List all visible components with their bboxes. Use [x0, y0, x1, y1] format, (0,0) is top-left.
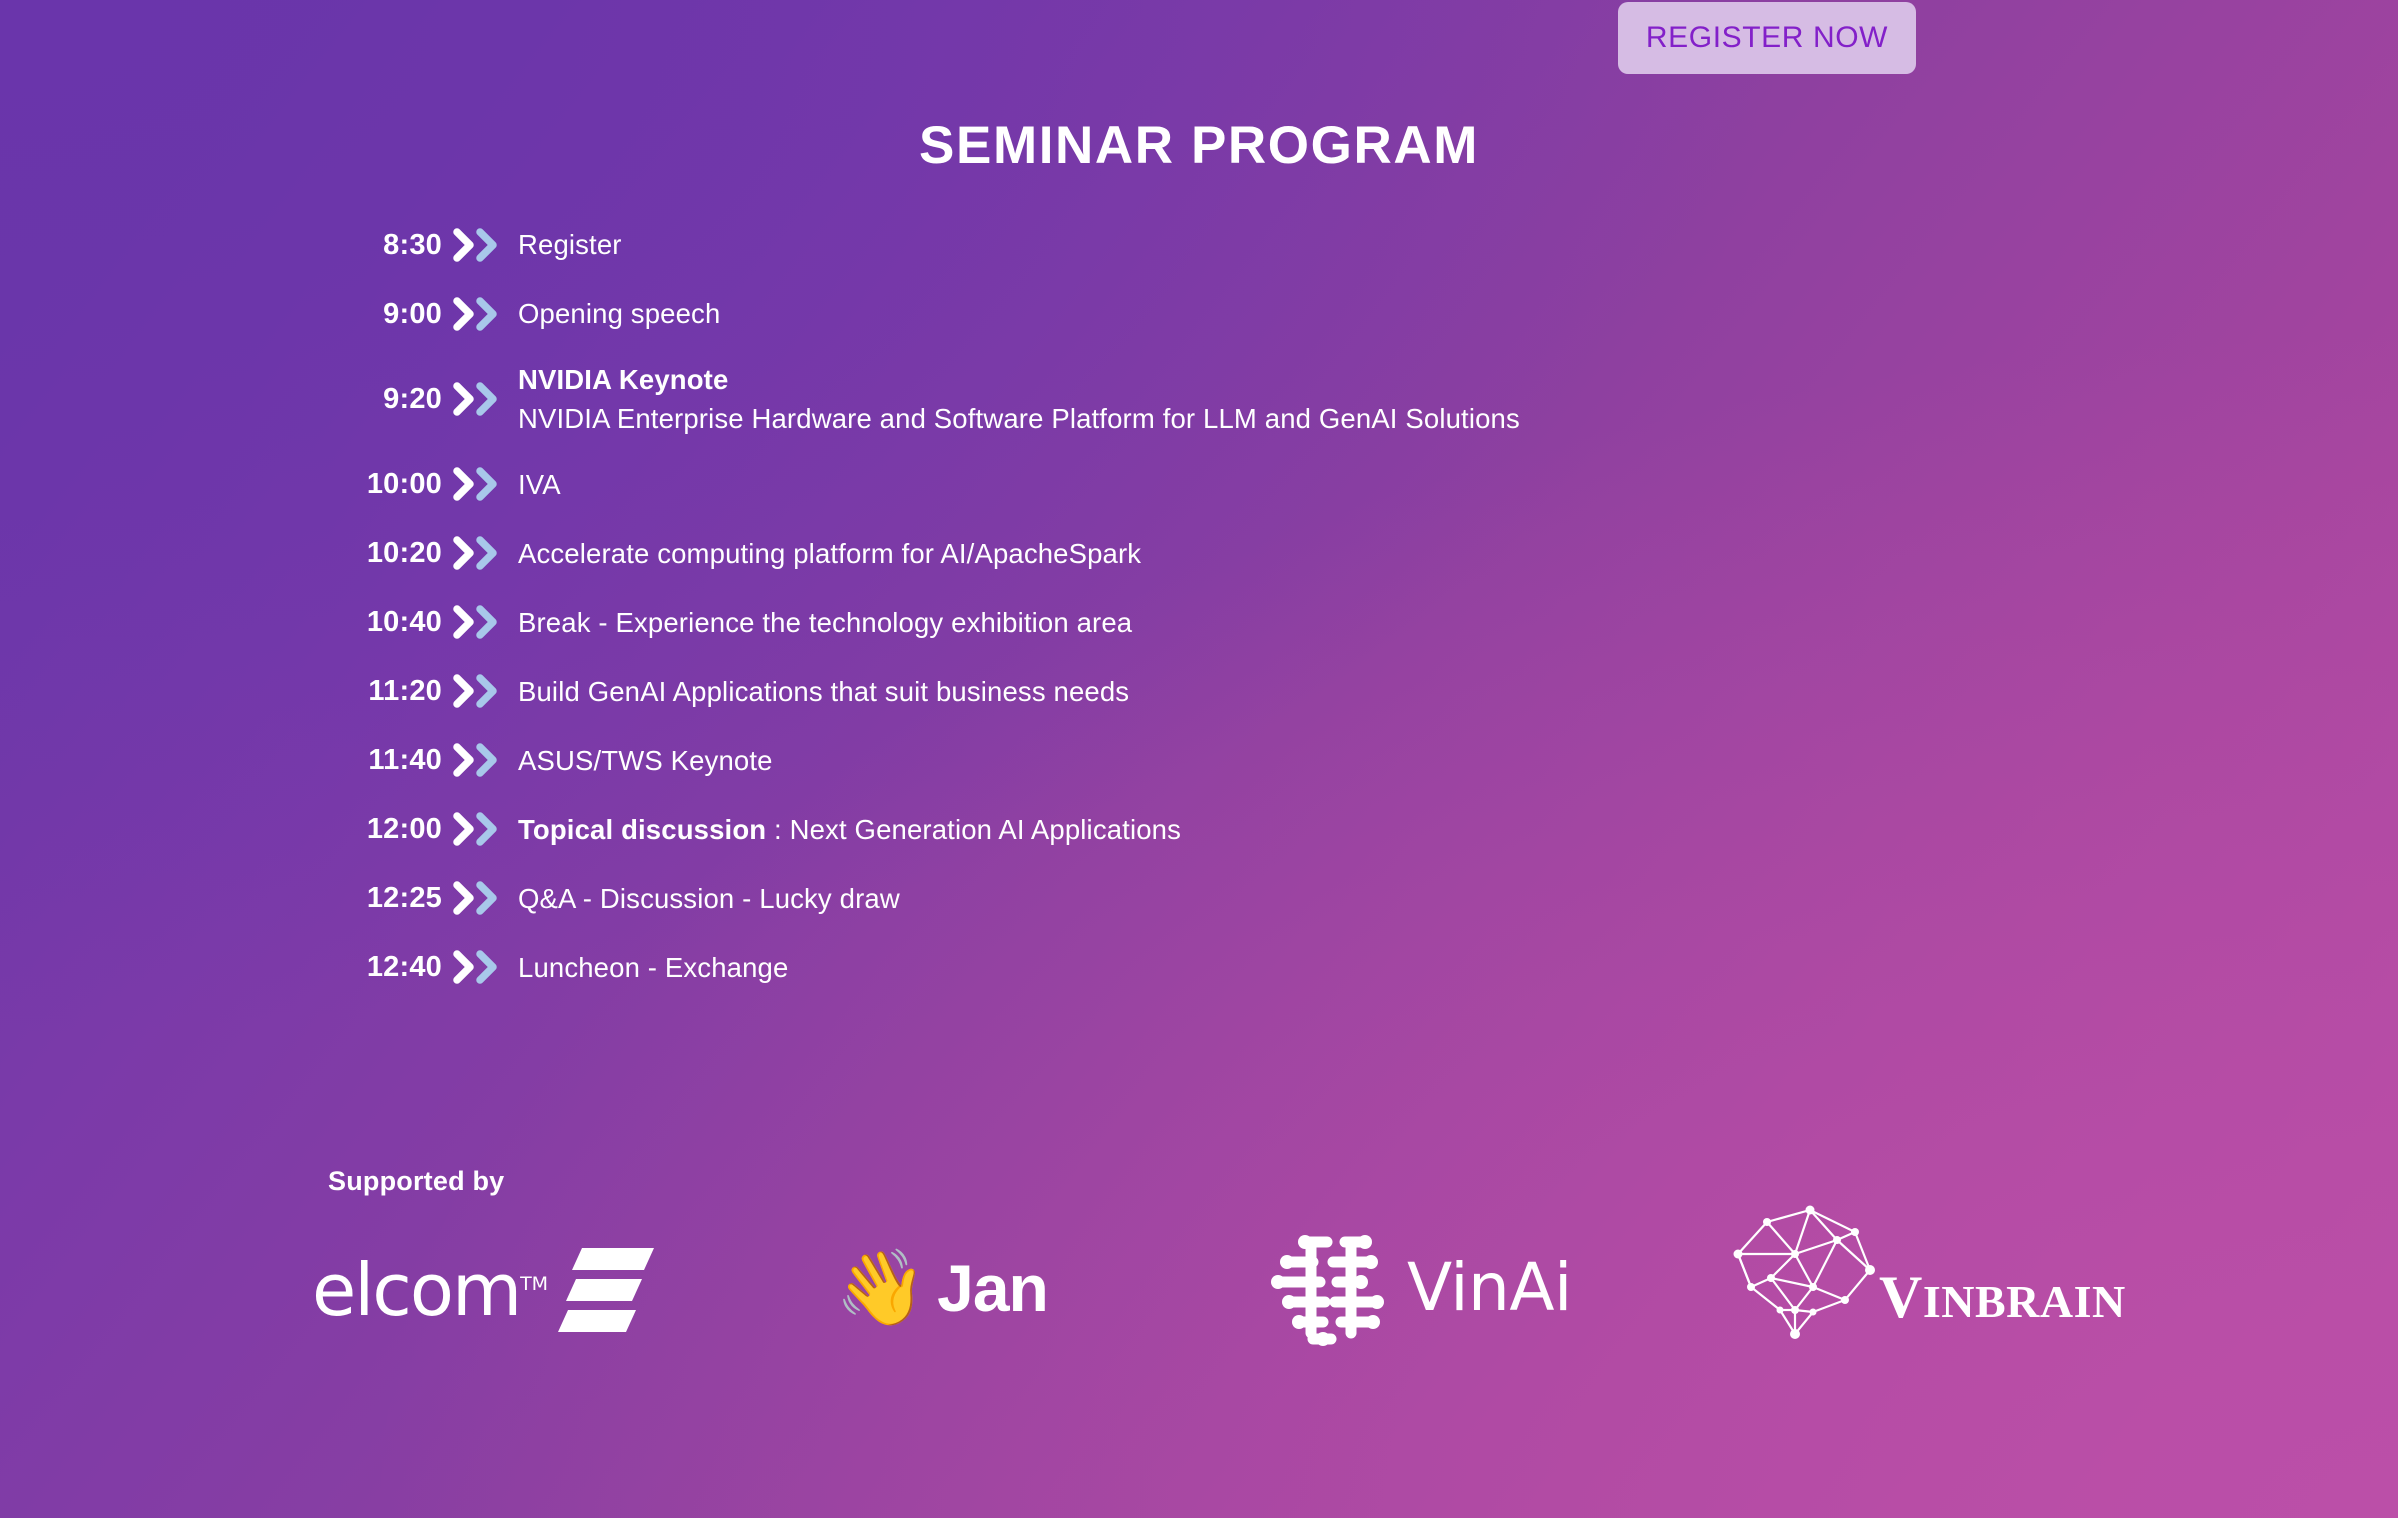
- row-text: Accelerate computing platform for AI/Apa…: [518, 534, 2030, 573]
- sponsor-logo-vinbrain: VINBRAIN: [1725, 1203, 2126, 1333]
- schedule-row: 9:00 Opening speech: [330, 291, 2030, 337]
- row-text: ASUS/TWS Keynote: [518, 741, 2030, 780]
- row-text: Break - Experience the technology exhibi…: [518, 603, 2030, 642]
- row-title: NVIDIA Keynote: [518, 360, 2030, 399]
- double-chevron-icon: [442, 605, 518, 639]
- schedule-row: 12:00 Topical discussion : Next Generati…: [330, 806, 2030, 852]
- row-text: Opening speech: [518, 294, 2030, 333]
- sponsor-logo-vinai: VinAi: [1265, 1223, 1572, 1353]
- row-time: 9:20: [330, 383, 442, 416]
- row-time: 9:00: [330, 298, 442, 331]
- double-chevron-icon: [442, 297, 518, 331]
- row-text: NVIDIA Keynote NVIDIA Enterprise Hardwar…: [518, 360, 2030, 438]
- elcom-word-text: elcom: [312, 1248, 520, 1332]
- double-chevron-icon: [442, 950, 518, 984]
- double-chevron-icon: [442, 467, 518, 501]
- double-chevron-icon: [442, 228, 518, 262]
- double-chevron-icon: [442, 536, 518, 570]
- vinbrain-wordmark: VINBRAIN: [1879, 1267, 2126, 1333]
- schedule-row: 11:40 ASUS/TWS Keynote: [330, 737, 2030, 783]
- row-time: 12:40: [330, 951, 442, 984]
- row-text: Q&A - Discussion - Lucky draw: [518, 879, 2030, 918]
- vinbrain-rest: INBRAIN: [1923, 1276, 2126, 1327]
- elcom-wordmark: elcomTM: [312, 1254, 548, 1326]
- jan-wordmark: Jan: [937, 1255, 1048, 1321]
- seminar-program-page: REGISTER NOW SEMINAR PROGRAM 8:30 Regist…: [0, 0, 2398, 1518]
- double-chevron-icon: [442, 674, 518, 708]
- brain-network-icon: [1725, 1192, 1885, 1344]
- schedule-row: 10:20 Accelerate computing platform for …: [330, 530, 2030, 576]
- schedule-row: 10:00 IVA: [330, 461, 2030, 507]
- sponsor-logo-elcom: elcomTM: [312, 1225, 656, 1355]
- row-time: 11:40: [330, 744, 442, 777]
- schedule-row: 10:40 Break - Experience the technology …: [330, 599, 2030, 645]
- schedule-list: 8:30 Register 9:00 Opening speech 9:: [330, 222, 2030, 1013]
- sponsor-logo-jan: 👋 Jan: [835, 1223, 1048, 1353]
- page-title: SEMINAR PROGRAM: [0, 115, 2398, 176]
- schedule-row: 12:25 Q&A - Discussion - Lucky draw: [330, 875, 2030, 921]
- elcom-e-mark-icon: [556, 1244, 656, 1336]
- row-text: IVA: [518, 465, 2030, 504]
- row-text: Topical discussion : Next Generation AI …: [518, 810, 2030, 849]
- double-chevron-icon: [442, 382, 518, 416]
- row-time: 10:20: [330, 537, 442, 570]
- vinbrain-initial: V: [1879, 1264, 1923, 1330]
- double-chevron-icon: [442, 812, 518, 846]
- schedule-row: 12:40 Luncheon - Exchange: [330, 944, 2030, 990]
- waving-hand-icon: 👋: [835, 1251, 927, 1325]
- row-time: 10:40: [330, 606, 442, 639]
- schedule-row: 9:20 NVIDIA Keynote NVIDIA Enterprise Ha…: [330, 360, 2030, 438]
- sponsor-logo-row: elcomTM 👋 Jan: [300, 1215, 2200, 1365]
- vinai-circuit-icon: [1265, 1229, 1393, 1347]
- double-chevron-icon: [442, 743, 518, 777]
- row-time: 12:00: [330, 813, 442, 846]
- row-lead: Topical discussion: [518, 814, 766, 845]
- register-now-button[interactable]: REGISTER NOW: [1618, 2, 1916, 74]
- vinai-wordmark: VinAi: [1407, 1255, 1572, 1321]
- row-time: 8:30: [330, 229, 442, 262]
- schedule-row: 8:30 Register: [330, 222, 2030, 268]
- row-text: Luncheon - Exchange: [518, 948, 2030, 987]
- trademark-icon: TM: [520, 1273, 548, 1295]
- supported-by-label: Supported by: [328, 1166, 504, 1197]
- row-time: 10:00: [330, 468, 442, 501]
- row-subtitle: NVIDIA Enterprise Hardware and Software …: [518, 399, 2030, 438]
- double-chevron-icon: [442, 881, 518, 915]
- row-text: Build GenAI Applications that suit busin…: [518, 672, 2030, 711]
- row-text-rest: : Next Generation AI Applications: [766, 814, 1181, 845]
- schedule-row: 11:20 Build GenAI Applications that suit…: [330, 668, 2030, 714]
- row-text: Register: [518, 225, 2030, 264]
- row-time: 11:20: [330, 675, 442, 708]
- row-time: 12:25: [330, 882, 442, 915]
